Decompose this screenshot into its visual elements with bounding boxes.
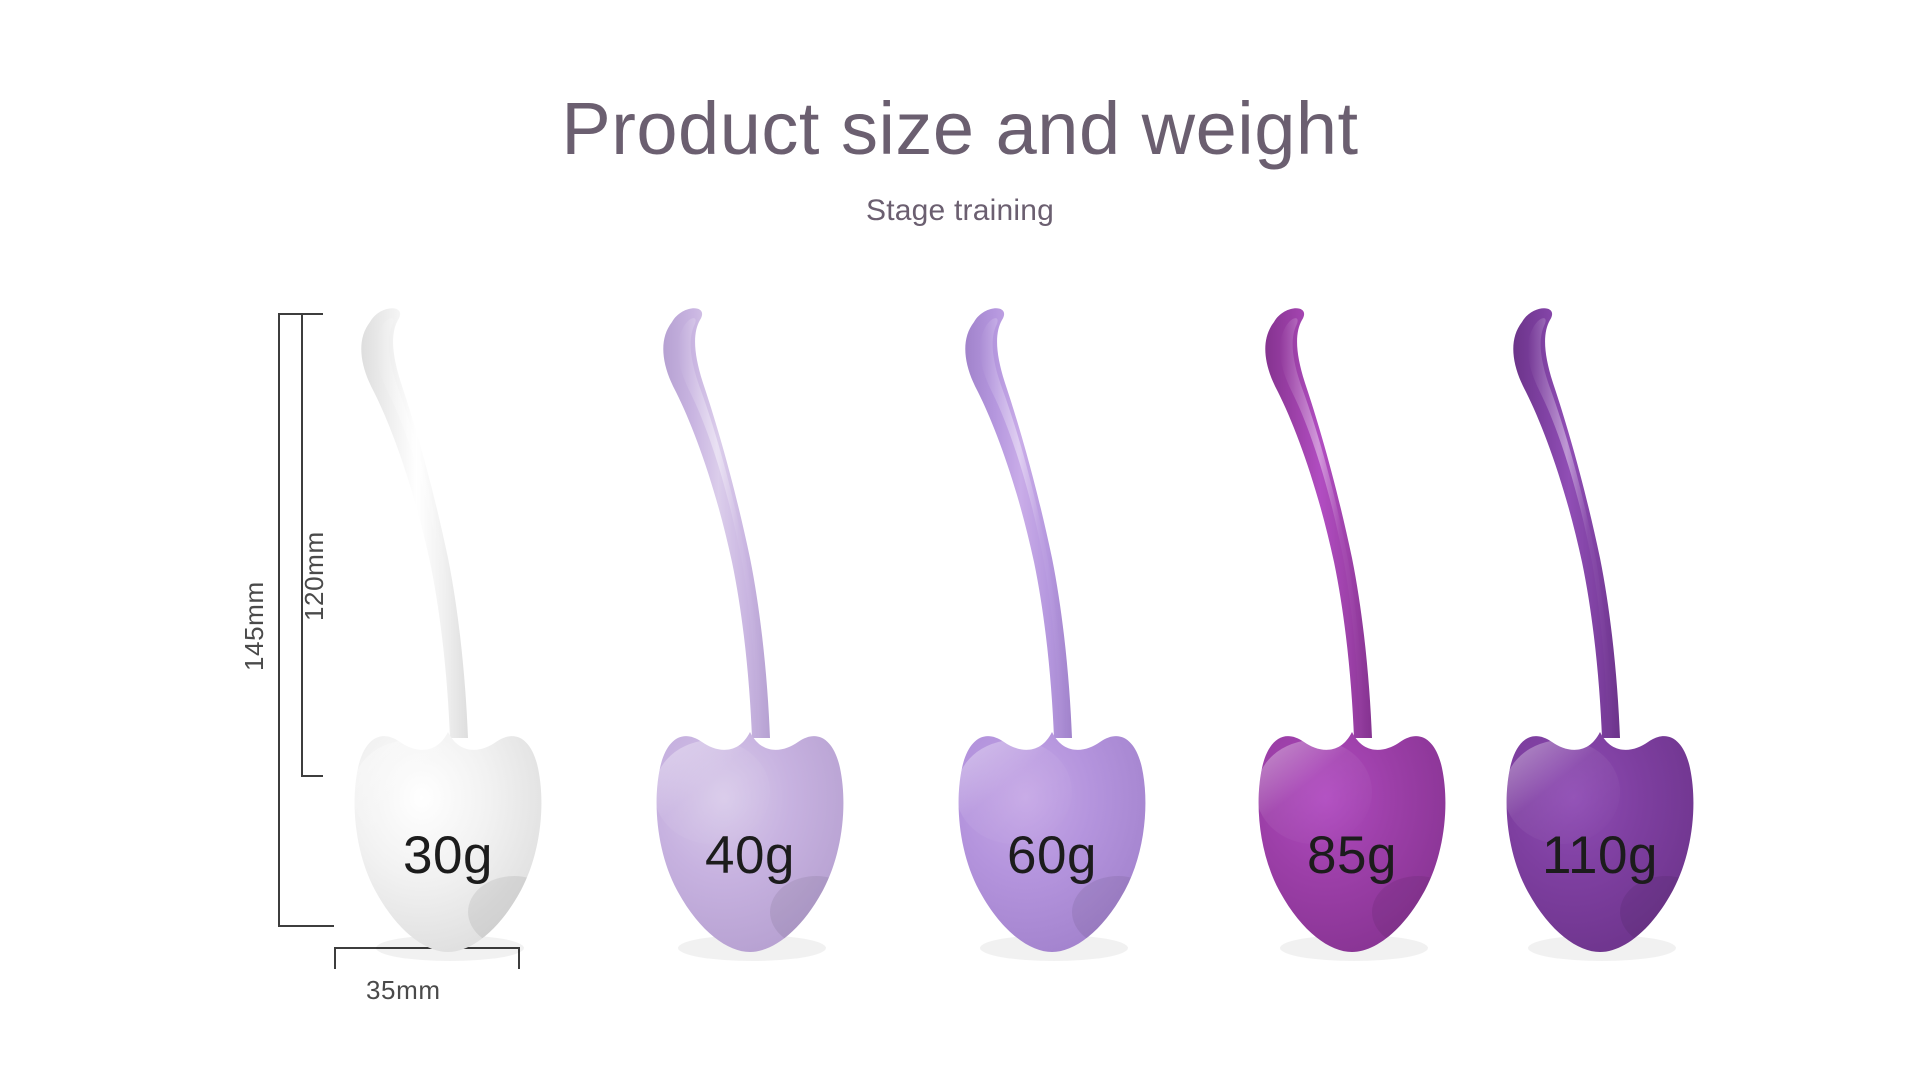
product-illustration-110g — [1470, 300, 1730, 960]
product-illustration-85g — [1222, 300, 1482, 960]
product-item-110g[interactable]: 110g — [1470, 300, 1730, 960]
product-item-40g[interactable]: 40g — [620, 300, 880, 960]
product-illustration-30g — [318, 300, 578, 960]
product-row: 30g — [0, 0, 1920, 1078]
product-illustration-40g — [620, 300, 880, 960]
product-item-60g[interactable]: 60g — [922, 300, 1182, 960]
product-item-30g[interactable]: 30g — [318, 300, 578, 960]
product-illustration-60g — [922, 300, 1182, 960]
product-item-85g[interactable]: 85g — [1222, 300, 1482, 960]
